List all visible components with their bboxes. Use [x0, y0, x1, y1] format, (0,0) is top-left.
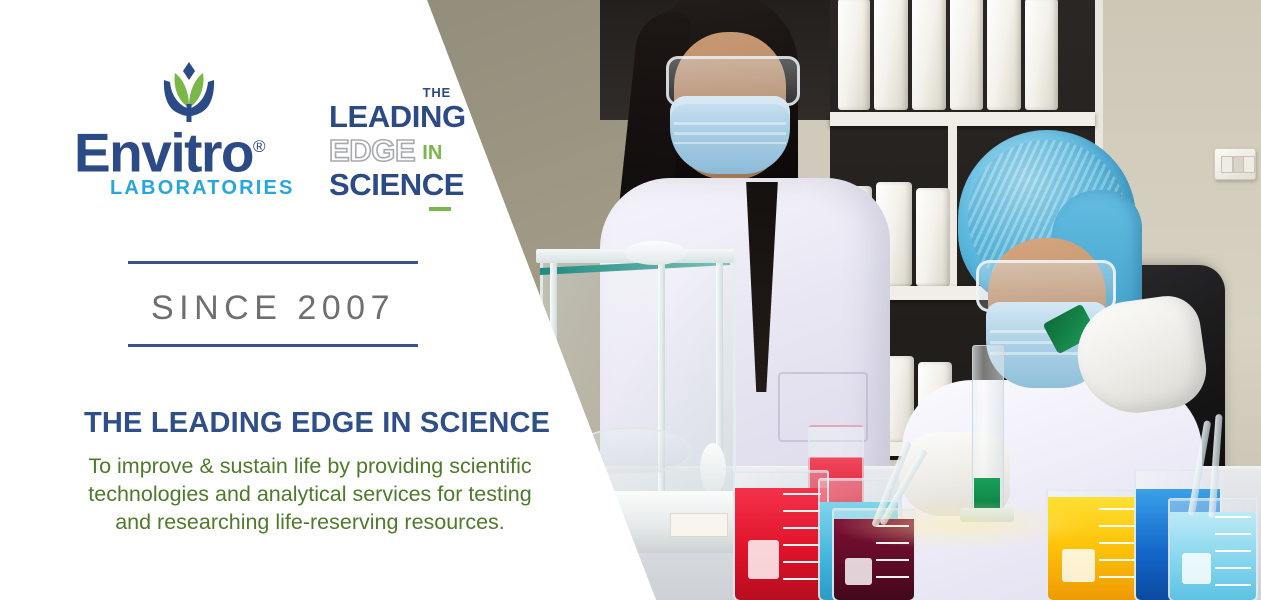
logo-row: Envitro® LABORATORIES THE LEADING EDGE I… [74, 60, 494, 210]
since-divider-bottom [128, 344, 418, 347]
tagline-line-3: and researching life-reserving resources… [60, 508, 560, 536]
since-divider-top [128, 261, 418, 264]
badge-science: SCIENCE [329, 168, 499, 202]
badge-accent-dash [429, 207, 451, 211]
page-title: THE LEADING EDGE IN SCIENCE [84, 406, 554, 440]
badge-edge-row: EDGE IN [329, 134, 499, 168]
tagline-line-1: To improve & sustain life by providing s… [60, 452, 560, 480]
promo-banner: Envitro® LABORATORIES THE LEADING EDGE I… [0, 0, 1261, 600]
content-panel: Envitro® LABORATORIES THE LEADING EDGE I… [0, 0, 600, 600]
leading-edge-badge: THE LEADING EDGE IN SCIENCE [329, 86, 499, 211]
badge-leading: LEADING [329, 100, 499, 134]
since-label: SINCE 2007 [128, 277, 418, 339]
registered-mark: ® [253, 137, 266, 156]
brand-name: Envitro [74, 121, 253, 183]
brand-subtitle: LABORATORIES [110, 176, 342, 200]
tulip-leaf-logo-icon [158, 60, 220, 122]
badge-in: IN [422, 138, 442, 168]
badge-the: THE [329, 86, 451, 100]
tagline-line-2: technologies and analytical services for… [60, 480, 560, 508]
brand-wordmark: Envitro® [74, 118, 306, 176]
badge-edge: EDGE [329, 134, 415, 168]
tagline: To improve & sustain life by providing s… [60, 452, 560, 536]
